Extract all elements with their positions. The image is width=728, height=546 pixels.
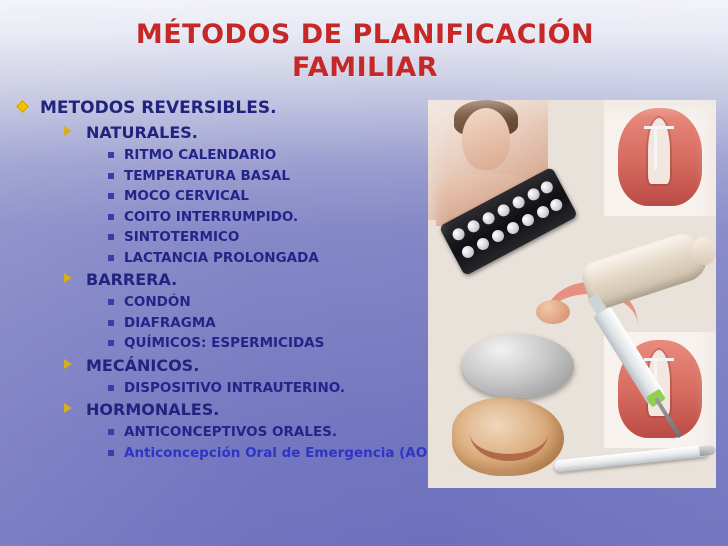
iud-arm-shape xyxy=(644,126,674,129)
square-bullet-icon xyxy=(108,450,114,456)
uterus-diagram-top-image xyxy=(604,100,716,216)
list-item: DISPOSITIVO INTRAUTERINO. xyxy=(14,378,444,399)
slide-body: METODOS REVERSIBLES. NATURALES. RITMO CA… xyxy=(14,96,444,463)
contraceptive-methods-collage-image xyxy=(428,100,716,488)
square-bullet-icon xyxy=(108,385,114,391)
pill-dot xyxy=(535,204,551,220)
list-item: TEMPERATURA BASAL xyxy=(14,166,444,187)
list-item: RITMO CALENDARIO xyxy=(14,145,444,166)
pill-dot xyxy=(520,212,536,228)
square-bullet-icon xyxy=(108,173,114,179)
list-item: Anticoncepción Oral de Emergencia (AOE) xyxy=(14,443,444,464)
list-item: HORMONALES. xyxy=(14,398,444,422)
thermometer-body-shape xyxy=(554,444,710,472)
pill-dot xyxy=(548,197,564,213)
list-item: ANTICONCEPTIVOS ORALES. xyxy=(14,422,444,443)
list-item: METODOS REVERSIBLES. xyxy=(14,96,444,121)
list-item-label: MOCO CERVICAL xyxy=(124,188,249,204)
pill-dot xyxy=(450,226,466,242)
list-item-label: ANTICONCEPTIVOS ORALES. xyxy=(124,424,337,440)
list-item-label: CONDÓN xyxy=(124,294,191,310)
square-bullet-icon xyxy=(108,193,114,199)
list-item-label: Anticoncepción Oral de Emergencia (AOE) xyxy=(124,445,443,461)
blister-pack-shape xyxy=(439,167,578,277)
arrow-bullet-icon xyxy=(64,359,72,369)
pill-dot xyxy=(480,210,496,226)
square-bullet-icon xyxy=(108,214,114,220)
list-item-label: SINTOTERMICO xyxy=(124,229,239,245)
list-item-label: METODOS REVERSIBLES. xyxy=(40,98,277,118)
presentation-slide: MÉTODOS DE PLANIFICACIÓN FAMILIAR METODO… xyxy=(0,0,728,546)
square-bullet-icon xyxy=(108,340,114,346)
slide-title-line-1: MÉTODOS DE PLANIFICACIÓN xyxy=(60,18,670,51)
list-item: CONDÓN xyxy=(14,292,444,313)
list-item: COITO INTERRUMPIDO. xyxy=(14,207,444,228)
pill-dot xyxy=(511,194,527,210)
pill-dot xyxy=(495,202,511,218)
pill-dot xyxy=(539,179,555,195)
list-item: NATURALES. xyxy=(14,121,444,145)
square-bullet-icon xyxy=(108,255,114,261)
list-item: DIAFRAGMA xyxy=(14,313,444,334)
list-item-label: RITMO CALENDARIO xyxy=(124,147,276,163)
list-item-label: QUÍMICOS: ESPERMICIDAS xyxy=(124,335,324,351)
slide-title-line-2: FAMILIAR xyxy=(60,51,670,84)
pill-dot xyxy=(490,228,506,244)
pill-dot xyxy=(460,244,476,260)
slide-title: MÉTODOS DE PLANIFICACIÓN FAMILIAR xyxy=(60,18,670,84)
pill-dot xyxy=(505,220,521,236)
list-item: BARRERA. xyxy=(14,268,444,292)
list-item-label: COITO INTERRUMPIDO. xyxy=(124,209,298,225)
list-item: MOCO CERVICAL xyxy=(14,186,444,207)
pill-dot xyxy=(475,236,491,252)
arrow-bullet-icon xyxy=(64,273,72,283)
list-item-label: DIAFRAGMA xyxy=(124,315,216,331)
list-item-label: MECÁNICOS. xyxy=(86,356,199,375)
square-bullet-icon xyxy=(108,429,114,435)
outline-list: METODOS REVERSIBLES. NATURALES. RITMO CA… xyxy=(14,96,444,463)
list-item: SINTOTERMICO xyxy=(14,227,444,248)
diamond-bullet-icon xyxy=(16,100,29,113)
square-bullet-icon xyxy=(108,234,114,240)
list-item-label: DISPOSITIVO INTRAUTERINO. xyxy=(124,380,345,396)
square-bullet-icon xyxy=(108,320,114,326)
arrow-bullet-icon xyxy=(64,126,72,136)
list-item-label: BARRERA. xyxy=(86,270,177,289)
pill-dot xyxy=(526,186,542,202)
list-item-label: TEMPERATURA BASAL xyxy=(124,168,290,184)
square-bullet-icon xyxy=(108,152,114,158)
list-item-label: NATURALES. xyxy=(86,123,198,142)
iud-stem-shape xyxy=(654,126,667,170)
list-item-label: LACTANCIA PROLONGADA xyxy=(124,250,319,266)
arrow-bullet-icon xyxy=(64,403,72,413)
list-item: QUÍMICOS: ESPERMICIDAS xyxy=(14,333,444,354)
list-item: MECÁNICOS. xyxy=(14,354,444,378)
square-bullet-icon xyxy=(108,299,114,305)
list-item-label: HORMONALES. xyxy=(86,400,219,419)
list-item: LACTANCIA PROLONGADA xyxy=(14,248,444,269)
pill-dot xyxy=(465,218,481,234)
thermometer-tip-shape xyxy=(699,445,716,457)
